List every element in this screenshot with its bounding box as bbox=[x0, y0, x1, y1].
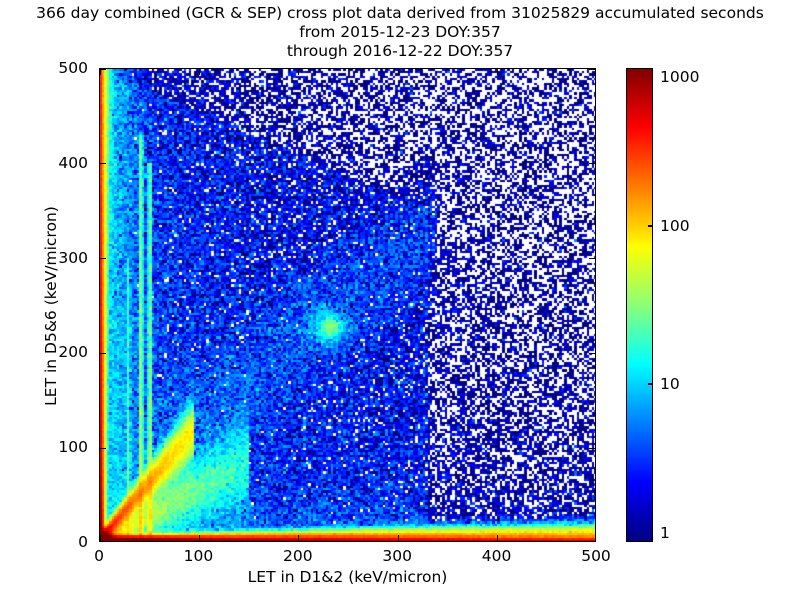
x-tick-mark-bottom bbox=[99, 535, 100, 541]
chart-title-line-3: through 2016-12-22 DOY:357 bbox=[0, 42, 800, 61]
y-tick-mark-right bbox=[589, 353, 595, 354]
y-tick-label: 300 bbox=[58, 249, 88, 267]
x-tick-mark-top bbox=[497, 69, 498, 75]
x-tick-mark-bottom bbox=[199, 535, 200, 541]
x-tick-mark-top bbox=[298, 69, 299, 75]
colorbar-tick-mark bbox=[648, 383, 653, 384]
y-tick-mark-left bbox=[100, 68, 106, 69]
x-tick-mark-top bbox=[398, 69, 399, 75]
y-tick-mark-left bbox=[100, 353, 106, 354]
y-axis-label: LET in D5&6 (keV/micron) bbox=[42, 69, 60, 543]
x-tick-mark-bottom bbox=[497, 535, 498, 541]
x-axis-label: LET in D1&2 (keV/micron) bbox=[99, 568, 596, 586]
y-tick-mark-right bbox=[589, 258, 595, 259]
chart-title-line-1: 366 day combined (GCR & SEP) cross plot … bbox=[0, 4, 800, 23]
colorbar-tick-label: 1 bbox=[660, 524, 670, 542]
x-tick-label: 300 bbox=[382, 547, 412, 565]
y-tick-label: 500 bbox=[58, 59, 88, 77]
y-tick-mark-left bbox=[100, 163, 106, 164]
x-tick-mark-top bbox=[199, 69, 200, 75]
y-tick-mark-right bbox=[589, 163, 595, 164]
y-tick-mark-left bbox=[100, 448, 106, 449]
x-tick-label: 0 bbox=[94, 547, 104, 565]
y-tick-mark-right bbox=[589, 448, 595, 449]
y-tick-mark-right bbox=[589, 68, 595, 69]
x-tick-mark-bottom bbox=[398, 535, 399, 541]
chart-title-line-2: from 2015-12-23 DOY:357 bbox=[0, 23, 800, 42]
y-tick-label: 200 bbox=[58, 343, 88, 361]
x-tick-label: 400 bbox=[482, 547, 512, 565]
x-tick-mark-bottom bbox=[298, 535, 299, 541]
y-tick-mark-left bbox=[100, 258, 106, 259]
plot-axes-area bbox=[99, 68, 596, 542]
y-tick-label: 0 bbox=[78, 533, 88, 551]
colorbar-tick-label: 1000 bbox=[660, 68, 699, 86]
colorbar-tick-mark bbox=[648, 225, 653, 226]
y-tick-label: 400 bbox=[58, 154, 88, 172]
density-scatter-plot bbox=[100, 69, 596, 542]
colorbar bbox=[626, 68, 653, 542]
x-tick-label: 200 bbox=[283, 547, 313, 565]
colorbar-tick-label: 100 bbox=[660, 217, 690, 235]
x-tick-label: 500 bbox=[581, 547, 611, 565]
y-tick-label: 100 bbox=[58, 438, 88, 456]
chart-title: 366 day combined (GCR & SEP) cross plot … bbox=[0, 4, 800, 61]
x-tick-mark-top bbox=[99, 69, 100, 75]
colorbar-tick-label: 10 bbox=[660, 375, 680, 393]
colorbar-gradient bbox=[626, 68, 653, 542]
figure-canvas: 366 day combined (GCR & SEP) cross plot … bbox=[0, 0, 800, 600]
x-tick-label: 100 bbox=[184, 547, 214, 565]
